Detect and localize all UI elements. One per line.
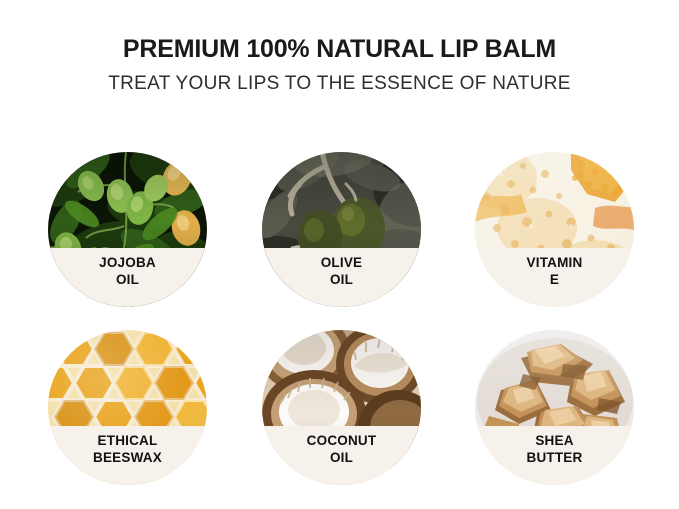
ingredient-label: ETHICAL BEESWAX [48, 426, 207, 485]
ingredient-label: COCONUT OIL [262, 426, 421, 485]
ingredient-label-line1: JOJOBA [99, 255, 156, 272]
ingredient-label-line1: OLIVE [321, 255, 363, 272]
ingredient-tile-olive-oil[interactable]: OLIVE OIL [262, 152, 421, 307]
ingredient-tile-vitamin-e[interactable]: VITAMIN E [475, 152, 634, 307]
ingredient-label-line1: COCONUT [307, 433, 377, 450]
ingredient-circle: COCONUT OIL [262, 330, 421, 485]
ingredient-grid: JOJOBA OIL [48, 152, 634, 484]
ingredient-label: SHEA BUTTER [475, 426, 634, 485]
ingredient-label-line1: VITAMIN [527, 255, 583, 272]
header: PREMIUM 100% NATURAL LIP BALM TREAT YOUR… [0, 0, 679, 94]
ingredient-label-line2: OIL [330, 450, 353, 467]
ingredient-circle: ETHICAL BEESWAX [48, 330, 207, 485]
ingredient-tile-coconut-oil[interactable]: COCONUT OIL [262, 330, 421, 485]
ingredient-label-line2: OIL [330, 272, 353, 289]
ingredient-label-line1: ETHICAL [98, 433, 158, 450]
ingredient-circle: SHEA BUTTER [475, 330, 634, 485]
ingredient-label-line2: E [550, 272, 559, 289]
ingredient-label-line2: BEESWAX [93, 450, 162, 467]
ingredient-label: VITAMIN E [475, 248, 634, 307]
ingredient-tile-ethical-beeswax[interactable]: ETHICAL BEESWAX [48, 330, 207, 485]
ingredient-circle: VITAMIN E [475, 152, 634, 307]
page-title: PREMIUM 100% NATURAL LIP BALM [0, 0, 679, 64]
ingredient-label: JOJOBA OIL [48, 248, 207, 307]
ingredient-tile-shea-butter[interactable]: SHEA BUTTER [475, 330, 634, 485]
ingredient-label-line2: BUTTER [527, 450, 583, 467]
page-subtitle: TREAT YOUR LIPS TO THE ESSENCE OF NATURE [0, 64, 679, 95]
ingredient-tile-jojoba-oil[interactable]: JOJOBA OIL [48, 152, 207, 307]
ingredient-circle: JOJOBA OIL [48, 152, 207, 307]
ingredient-label-line1: SHEA [535, 433, 573, 450]
ingredient-label-line2: OIL [116, 272, 139, 289]
ingredient-label: OLIVE OIL [262, 248, 421, 307]
ingredient-circle: OLIVE OIL [262, 152, 421, 307]
